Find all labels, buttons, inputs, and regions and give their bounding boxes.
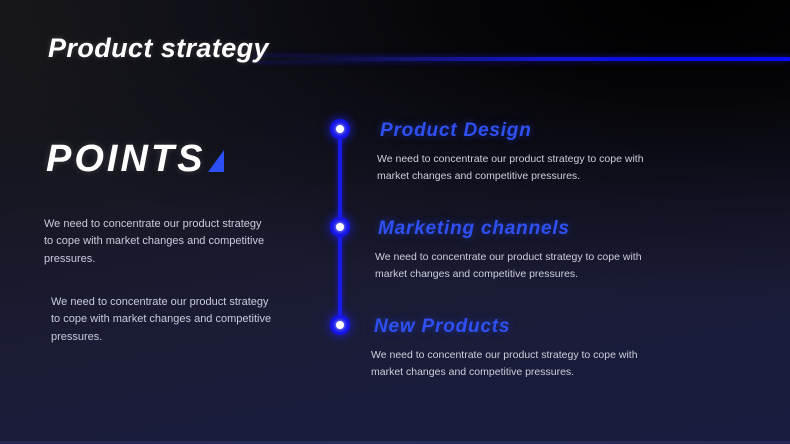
timeline-bullet-3 [330, 315, 350, 335]
page-title: Product strategy [48, 33, 269, 64]
timeline-item-body: We need to concentrate our product strat… [375, 249, 657, 283]
timeline-item-heading: Marketing channels [378, 218, 657, 240]
timeline-item-product-design: Product Design We need to concentrate ou… [380, 120, 659, 185]
presentation-slide: Product strategy POINTS We need to conce… [0, 0, 790, 444]
points-headline: POINTS [46, 140, 205, 178]
timeline-item-body: We need to concentrate our product strat… [377, 151, 659, 185]
left-paragraph-2: We need to concentrate our product strat… [51, 294, 276, 346]
timeline-item-heading: New Products [374, 316, 653, 338]
timeline-item-heading: Product Design [380, 120, 659, 142]
timeline-bullet-1 [330, 119, 350, 139]
timeline-item-new-products: New Products We need to concentrate our … [374, 316, 653, 381]
timeline-bullet-2 [330, 217, 350, 237]
timeline-item-marketing-channels: Marketing channels We need to concentrat… [378, 218, 657, 283]
triangle-accent-icon [208, 150, 224, 172]
left-paragraph-1: We need to concentrate our product strat… [44, 216, 269, 268]
title-underline-rule [255, 57, 790, 61]
points-headline-group: POINTS [46, 140, 224, 178]
timeline-item-body: We need to concentrate our product strat… [371, 347, 653, 381]
